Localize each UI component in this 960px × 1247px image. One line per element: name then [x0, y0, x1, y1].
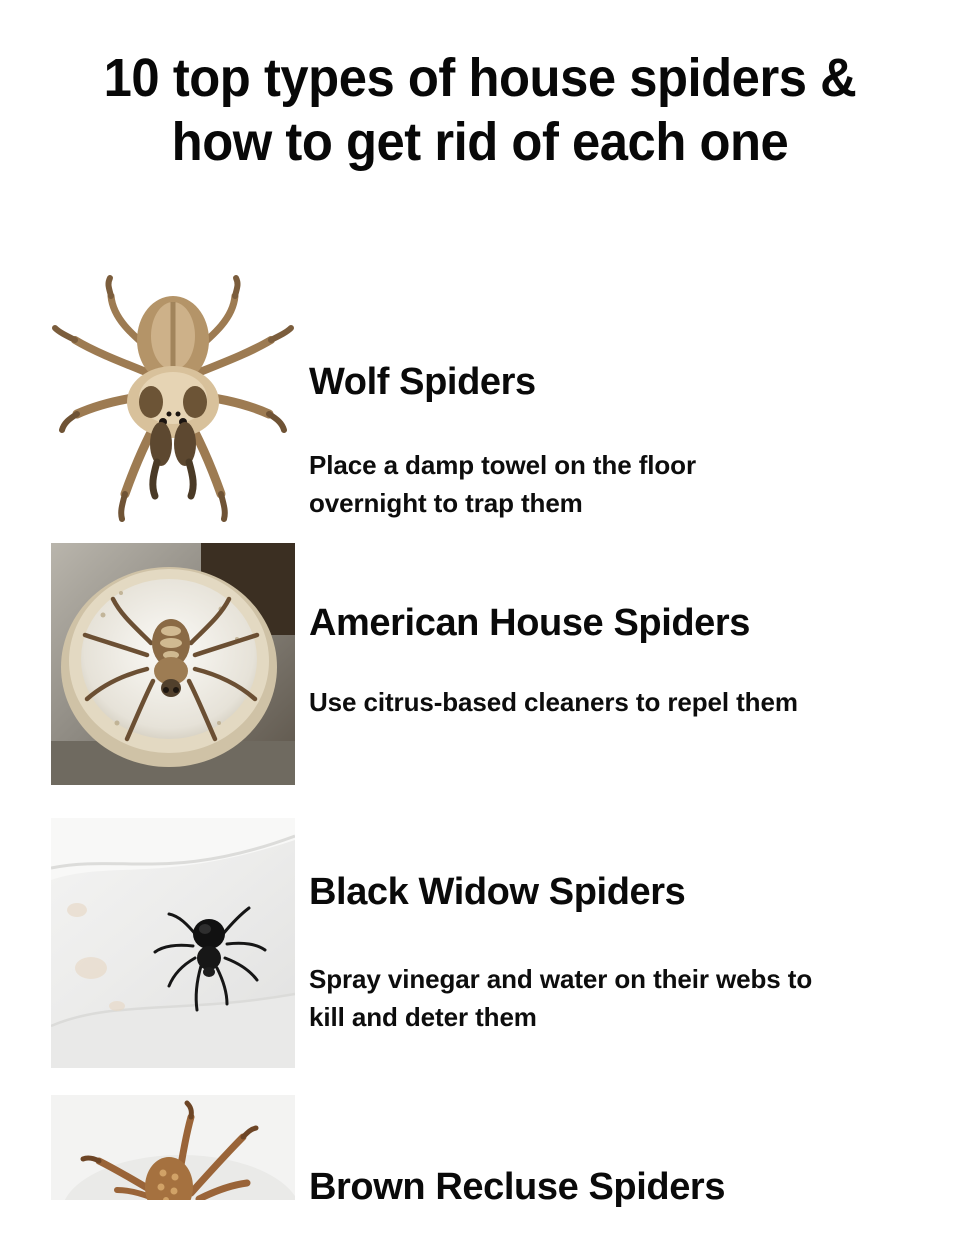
list-item: Black Widow Spiders Spray vinegar and wa… [0, 818, 960, 1068]
list-item: Wolf Spiders Place a damp towel on the f… [0, 262, 960, 534]
thumbnail-container [0, 262, 296, 534]
entry-text: Black Widow Spiders Spray vinegar and wa… [296, 818, 960, 1036]
entry-description: Use citrus-based cleaners to repel them [309, 683, 819, 721]
entry-heading: American House Spiders [309, 601, 930, 645]
entry-text: American House Spiders Use citrus-based … [296, 543, 960, 721]
entry-heading: Wolf Spiders [309, 360, 930, 404]
thumbnail-container [0, 543, 296, 785]
entry-heading: Brown Recluse Spiders [309, 1165, 930, 1209]
entry-description: Spray vinegar and water on their webs to… [309, 960, 819, 1036]
thumbnail-container [0, 1095, 296, 1200]
entry-description: Place a damp towel on the floor overnigh… [309, 446, 819, 522]
page-title-line-1: 10 top types of house spiders & [29, 46, 931, 110]
wolf-spider-photo [51, 262, 295, 534]
spider-list: Wolf Spiders Place a damp towel on the f… [0, 262, 960, 1247]
page-title: 10 top types of house spiders & how to g… [0, 0, 960, 174]
list-item: Brown Recluse Spiders [0, 1095, 960, 1247]
entry-text: Wolf Spiders Place a damp towel on the f… [296, 262, 960, 522]
american-house-spider-photo [51, 543, 295, 785]
page-title-line-2: how to get rid of each one [29, 110, 931, 174]
thumbnail-container [0, 818, 296, 1068]
list-item: American House Spiders Use citrus-based … [0, 543, 960, 785]
black-widow-spider-photo [51, 818, 295, 1068]
entry-heading: Black Widow Spiders [309, 870, 930, 914]
brown-recluse-spider-photo [51, 1095, 295, 1200]
entry-text: Brown Recluse Spiders [296, 1095, 960, 1247]
